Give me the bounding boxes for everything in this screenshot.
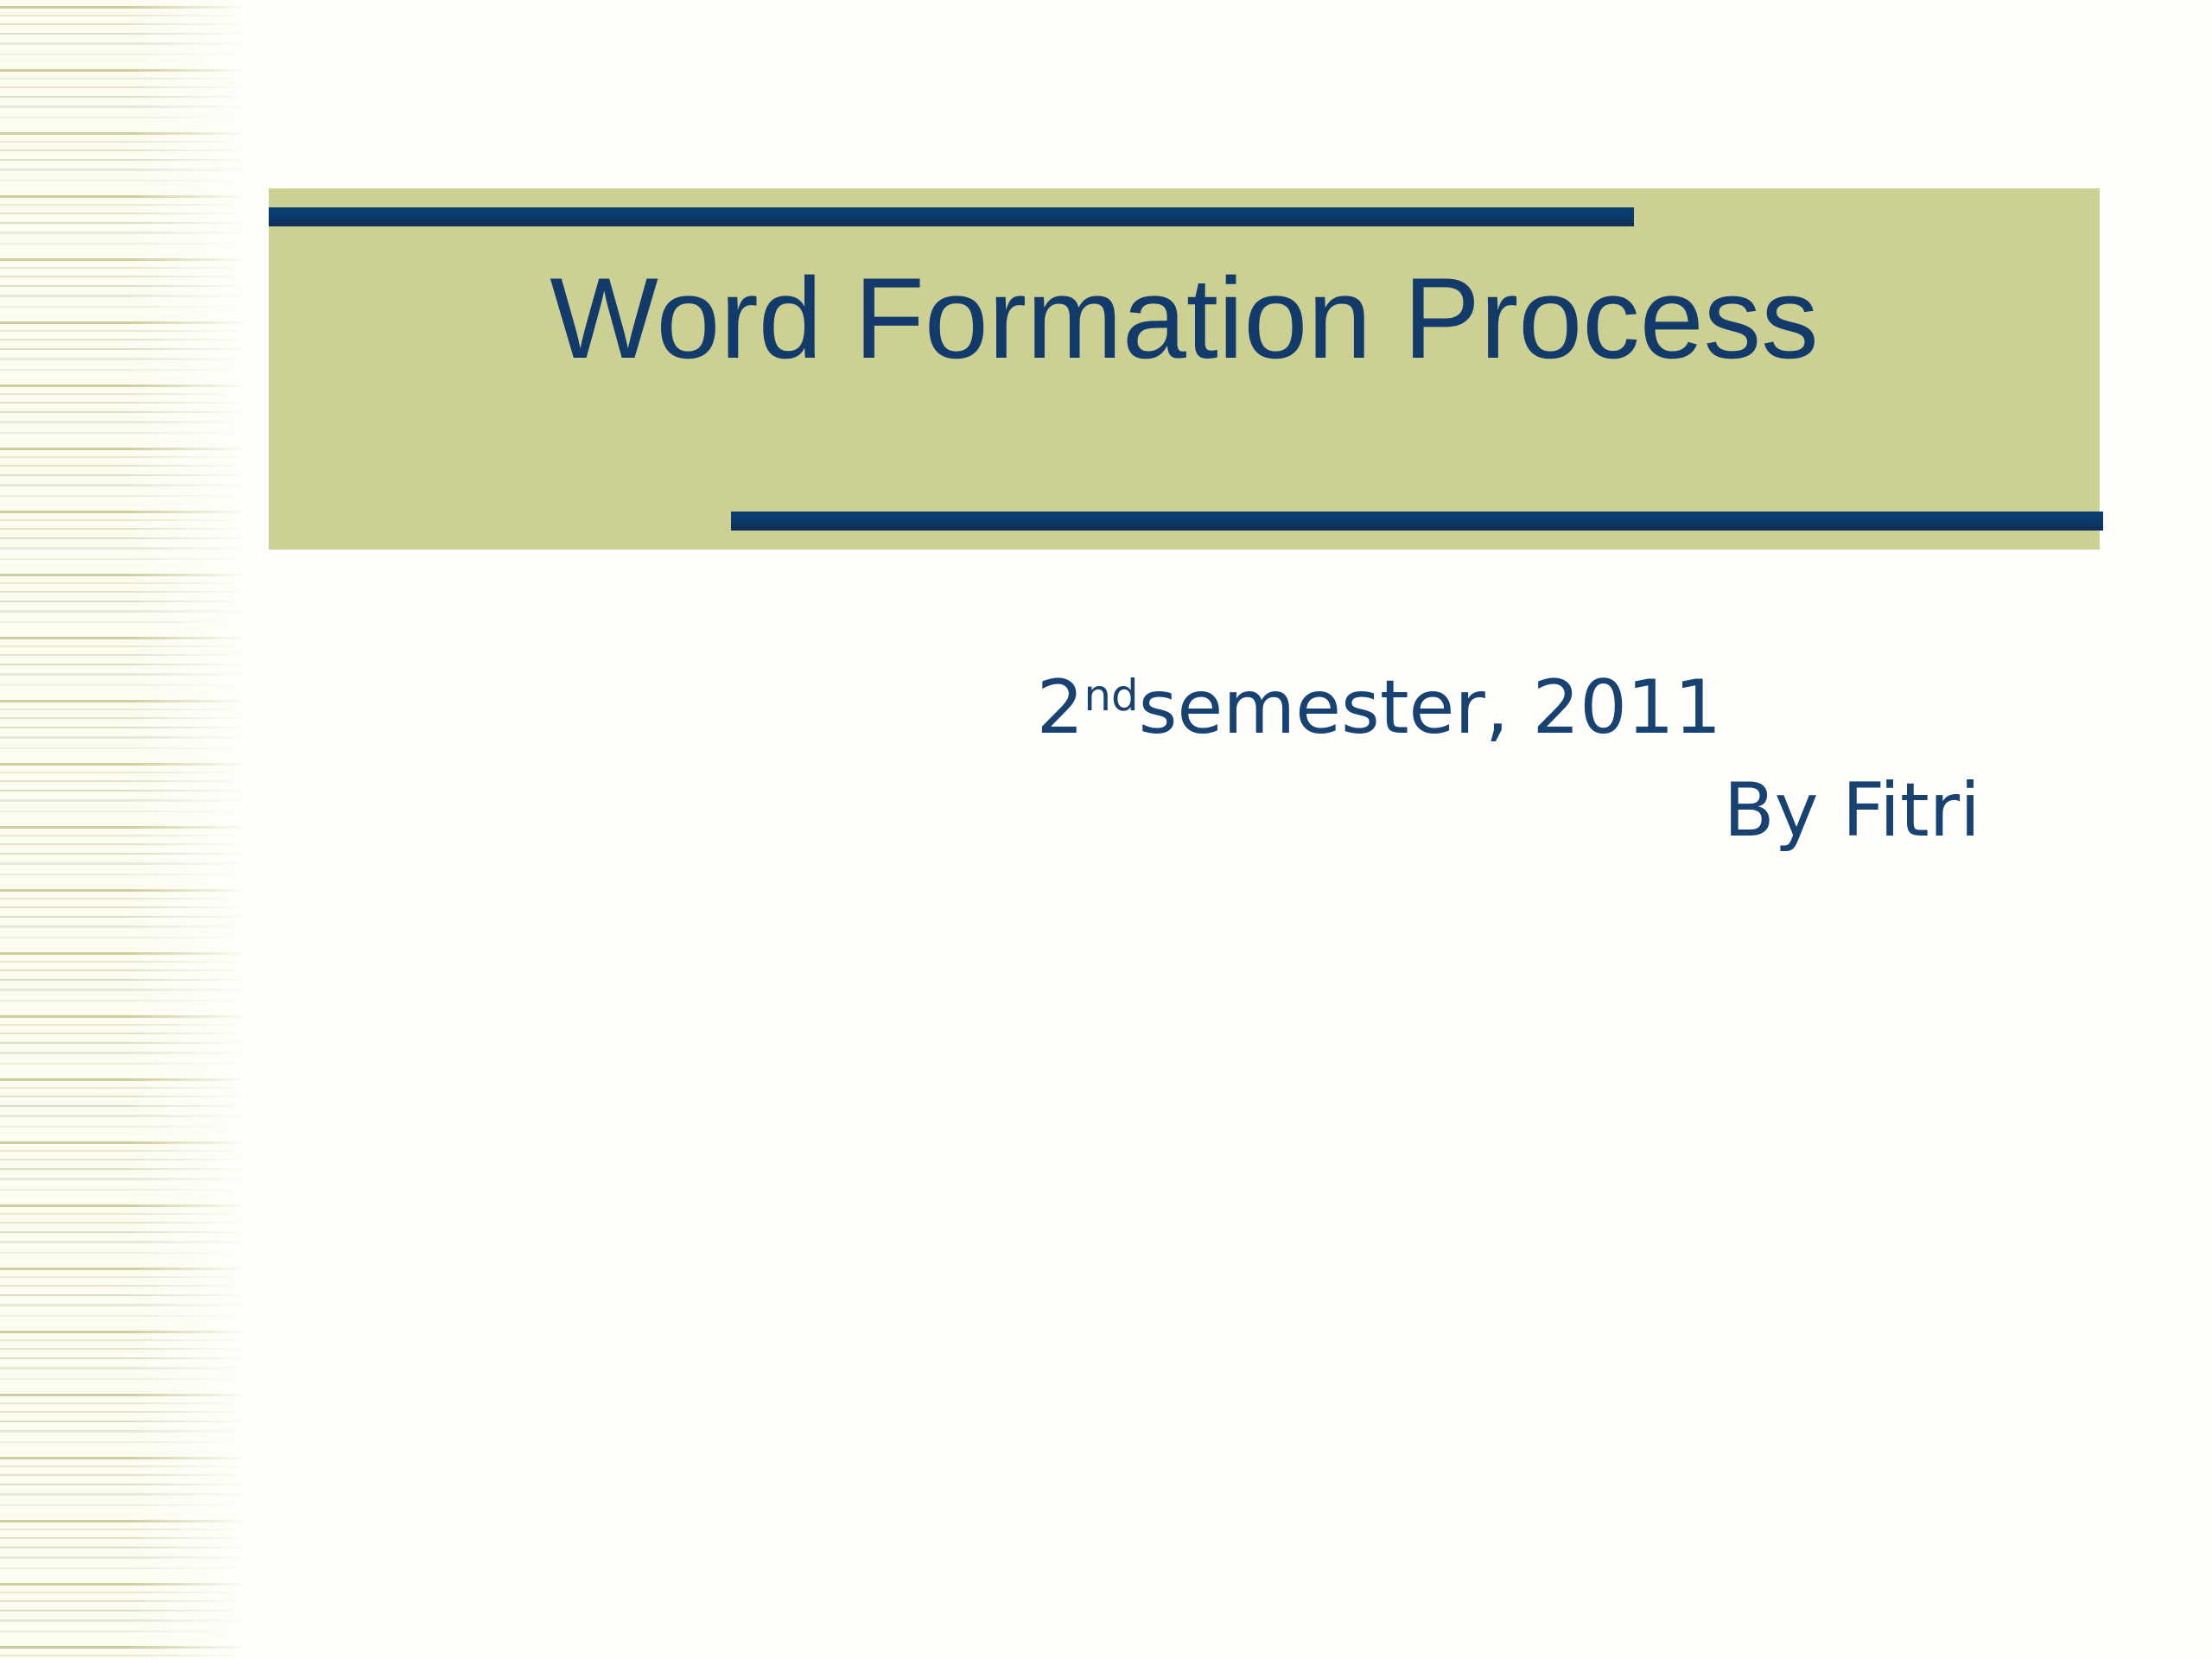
subtitle-ordinal-suffix: nd [1084,671,1138,721]
subtitle-ordinal-number: 2 [1037,664,1084,751]
striped-left-border-decoration [0,0,244,1659]
slide-canvas: Word Formation Process 2ndsemester, 2011… [0,0,2212,1659]
title-bottom-rule [731,512,2103,531]
slide-title: Word Formation Process [269,259,2100,380]
subtitle-line-author: By Fitri [778,760,1980,862]
subtitle-placeholder: 2ndsemester, 2011 By Fitri [778,657,1980,861]
subtitle-semester-year: semester, 2011 [1139,664,1722,751]
subtitle-line-semester: 2ndsemester, 2011 [778,657,1980,760]
title-top-rule [269,207,1634,226]
